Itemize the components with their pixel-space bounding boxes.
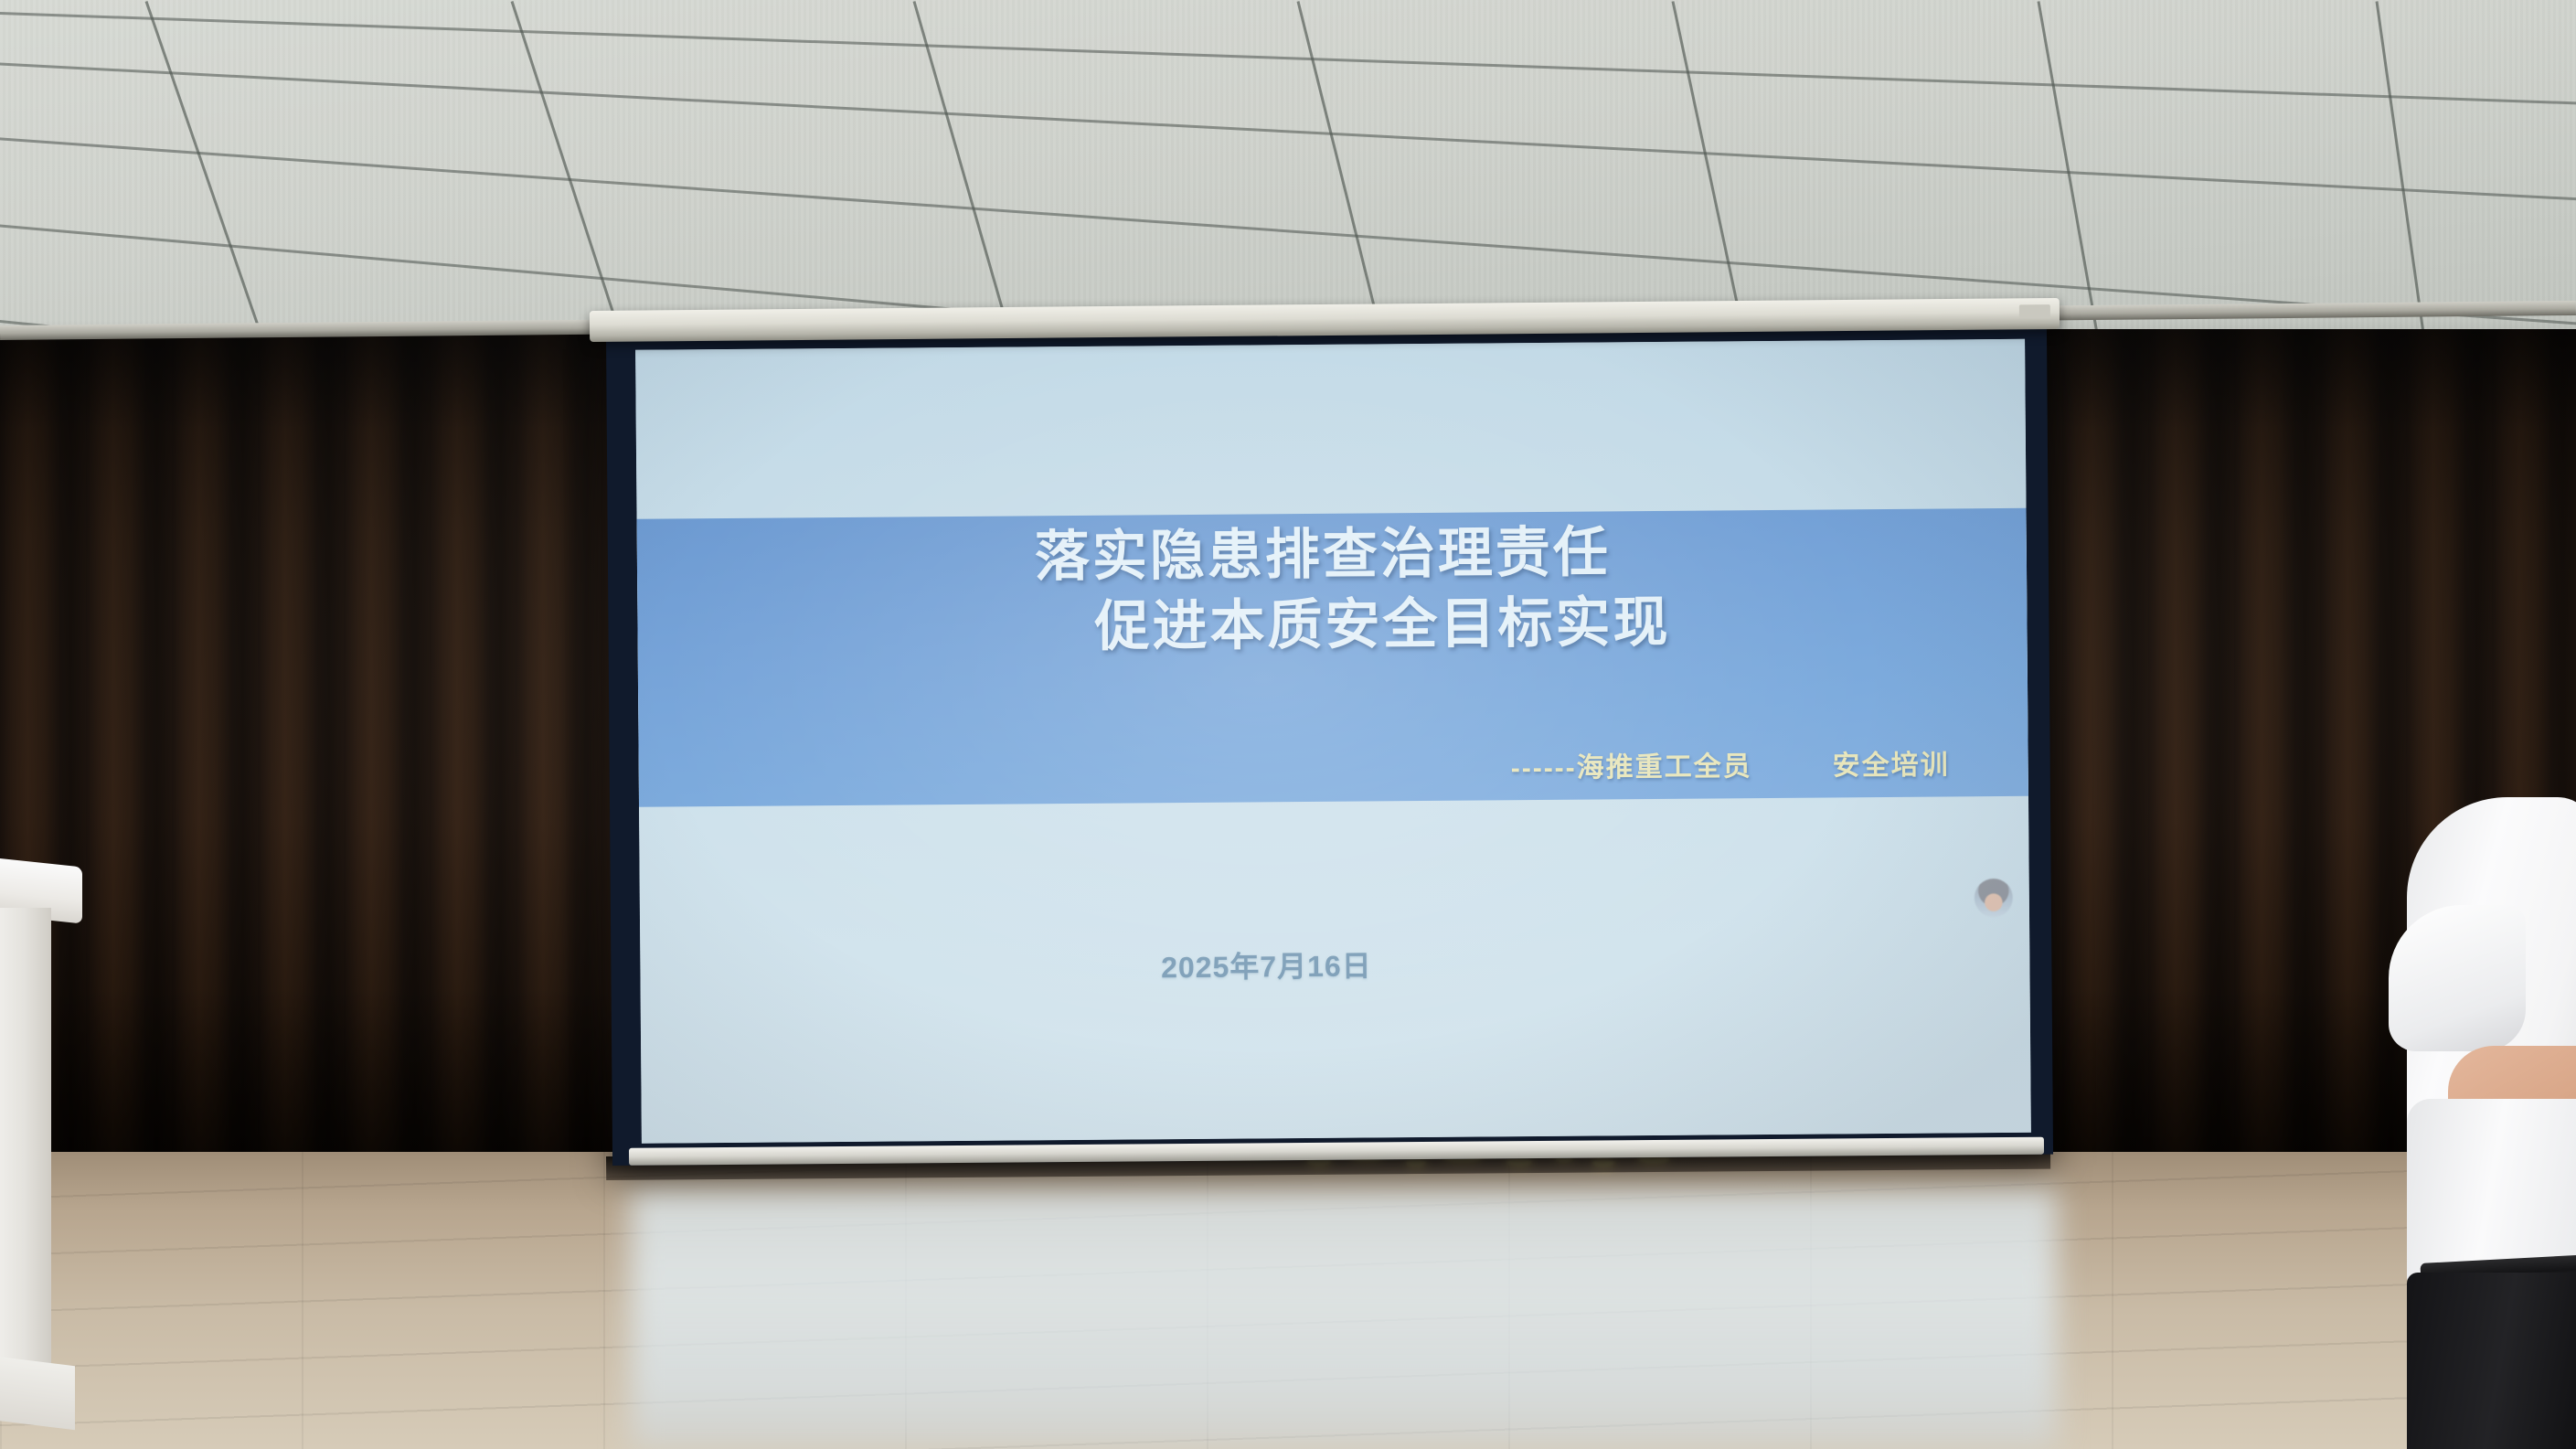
room-photo-scene: 落实隐患排查治理责任 促进本质安全目标实现 ------海推重工全员 安全培训 … — [0, 0, 2576, 1449]
slide-subtitle-left: ------海推重工全员 — [1511, 743, 1752, 785]
podium-base — [0, 1356, 75, 1430]
person-shirt-lower — [2407, 1099, 2576, 1282]
slide-date: 2025年7月16日 — [640, 938, 2029, 991]
slide-title-line-1: 落实隐患排查治理责任 — [637, 515, 2028, 596]
presentation-slide: 落实隐患排查治理责任 促进本质安全目标实现 ------海推重工全员 安全培训 … — [635, 339, 2031, 1144]
slide-title: 落实隐患排查治理责任 促进本质安全目标实现 — [637, 515, 2028, 666]
slide-avatar-icon — [1975, 879, 2013, 917]
housing-endcap — [2019, 304, 2050, 318]
projection-screen: 落实隐患排查治理责任 促进本质安全目标实现 ------海推重工全员 安全培训 … — [606, 327, 2053, 1166]
podium — [0, 858, 90, 1449]
projector-light-spill — [631, 1188, 2057, 1449]
person-sleeve — [2389, 905, 2526, 1051]
person — [2402, 797, 2576, 1449]
podium-column — [0, 908, 51, 1383]
slide-subtitle-right: 安全培训 — [1833, 741, 1950, 783]
slide-title-line-2: 促进本质安全目标实现 — [637, 585, 2028, 666]
screen-surface: 落实隐患排查治理责任 促进本质安全目标实现 ------海推重工全员 安全培训 … — [635, 339, 2031, 1144]
person-trousers — [2407, 1273, 2576, 1449]
